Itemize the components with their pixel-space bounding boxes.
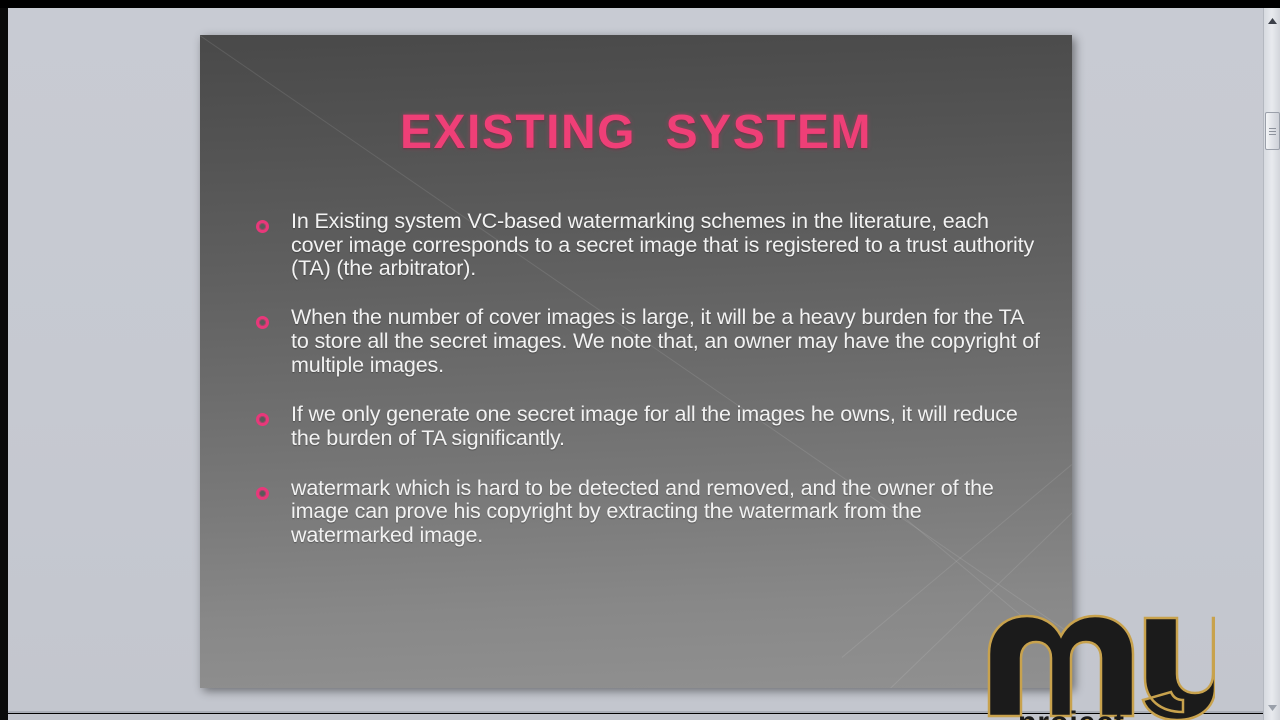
vertical-scrollbar[interactable]: [1263, 8, 1280, 720]
scroll-down-arrow-icon[interactable]: [1264, 699, 1280, 716]
slide-title: EXISTING SYSTEM: [200, 105, 1072, 160]
ring-bullet-icon: [256, 220, 269, 233]
bullet-item: In Existing system VC-based watermarking…: [256, 210, 1046, 281]
scrollbar-thumb[interactable]: [1265, 112, 1280, 150]
slide-canvas: EXISTING SYSTEM In Existing system VC-ba…: [200, 35, 1072, 688]
slide-bullet-list: In Existing system VC-based watermarking…: [256, 210, 1046, 570]
ring-bullet-icon: [256, 413, 269, 426]
window-top-bar: [0, 0, 1280, 8]
bullet-text: watermark which is hard to be detected a…: [291, 477, 1046, 548]
bullet-text: When the number of cover images is large…: [291, 306, 1046, 377]
presentation-viewer: EXISTING SYSTEM In Existing system VC-ba…: [0, 0, 1280, 720]
scroll-up-arrow-icon[interactable]: [1264, 12, 1280, 29]
watermark-subtext: project: [1018, 706, 1125, 720]
bullet-item: If we only generate one secret image for…: [256, 403, 1046, 450]
bullet-text: If we only generate one secret image for…: [291, 403, 1046, 450]
ring-bullet-icon: [256, 487, 269, 500]
bullet-item: watermark which is hard to be detected a…: [256, 477, 1046, 548]
bullet-text: In Existing system VC-based watermarking…: [291, 210, 1046, 281]
ring-bullet-icon: [256, 316, 269, 329]
scrollbar-grip-icon: [1269, 126, 1276, 137]
bullet-item: When the number of cover images is large…: [256, 306, 1046, 377]
window-left-edge: [0, 8, 8, 720]
